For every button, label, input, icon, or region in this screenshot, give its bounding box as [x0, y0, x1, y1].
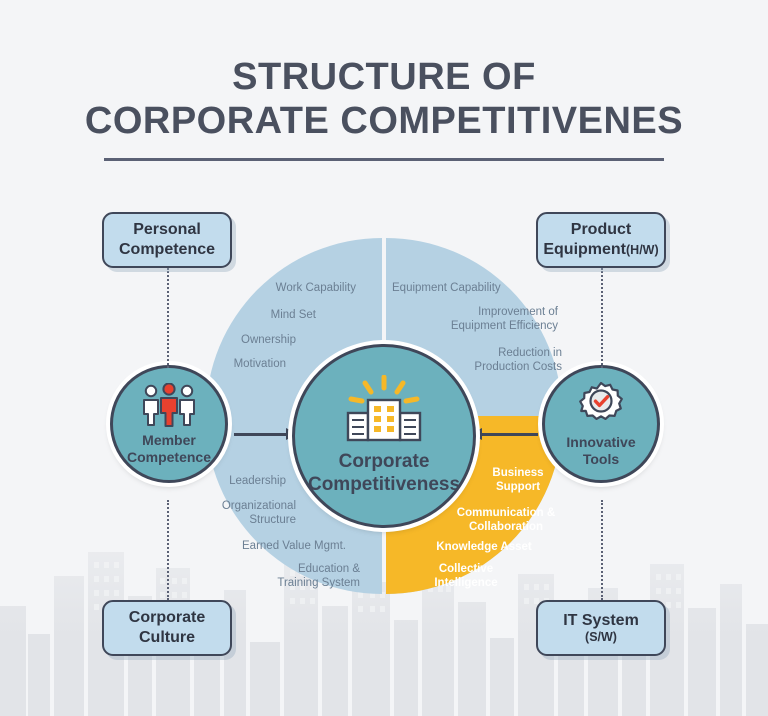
- spoke-line: Education &: [216, 562, 360, 576]
- spoke-ownership: Ownership: [156, 333, 296, 347]
- connector-product-equipment: [601, 268, 603, 368]
- spoke-line: Support: [472, 480, 564, 494]
- spoke-education-training-system: Education & Training System: [216, 562, 360, 591]
- spoke-line: Collaboration: [434, 520, 578, 534]
- spoke-line: Reduction in: [420, 346, 562, 360]
- spoke-line: Communication &: [434, 506, 578, 520]
- label-box-text: IT System (S/W): [563, 611, 639, 646]
- connector-personal-competence: [167, 268, 169, 368]
- page-title: STRUCTURE OF CORPORATE COMPETITIVENES: [0, 55, 768, 161]
- label-box-text: Product Equipment(H/W): [543, 220, 658, 259]
- arrow-member-to-center: [234, 425, 298, 445]
- spoke-line: Structure: [156, 513, 296, 527]
- spoke-improvement-equipment-efficiency: Improvement of Equipment Efficiency: [402, 305, 558, 334]
- node-center-label: Corporate Competitiveness: [308, 451, 460, 497]
- spoke-earned-value-mgmt: Earned Value Mgmt.: [186, 539, 346, 553]
- label-box-corporate-culture[interactable]: Corporate Culture: [102, 600, 232, 656]
- connector-corporate-culture: [167, 500, 169, 600]
- node-right-label-line2: Tools: [566, 451, 635, 468]
- title-underline: [104, 158, 664, 161]
- gear-check-icon: [576, 381, 626, 429]
- arrow-shaft: [234, 433, 288, 436]
- infographic-canvas: STRUCTURE OF CORPORATE COMPETITIVENES Wo…: [0, 0, 768, 716]
- connector-it-system: [601, 500, 603, 600]
- spoke-communication-collaboration: Communication & Collaboration: [434, 506, 578, 535]
- node-center-label-line1: Corporate: [308, 451, 460, 474]
- spoke-line: Equipment Efficiency: [402, 319, 558, 333]
- label-line-1: Product: [543, 220, 658, 240]
- label-box-it-system[interactable]: IT System (S/W): [536, 600, 666, 656]
- spoke-work-capability: Work Capability: [196, 281, 356, 295]
- node-corporate-competitiveness[interactable]: Corporate Competitiveness: [292, 344, 476, 528]
- label-box-product-equipment[interactable]: Product Equipment(H/W): [536, 212, 666, 268]
- spoke-line: Organizational: [156, 499, 296, 513]
- spoke-organizational-structure: Organizational Structure: [156, 499, 296, 528]
- spoke-line: Business: [472, 466, 564, 480]
- label-line-1: Corporate: [129, 608, 205, 628]
- arrow-shaft: [480, 433, 538, 436]
- label-line-2: Competence: [119, 240, 215, 260]
- spoke-mind-set: Mind Set: [176, 308, 316, 322]
- three-people-icon: [140, 383, 198, 427]
- node-right-label-line1: Innovative: [566, 434, 635, 451]
- node-center-label-line2: Competitiveness: [308, 474, 460, 497]
- label-line-2-main: Equipment: [543, 241, 626, 258]
- spoke-collective-intelligence: Collective Intelligence: [404, 562, 528, 591]
- label-line-1: Personal: [119, 220, 215, 240]
- label-line-2-suffix: (H/W): [626, 243, 659, 257]
- arrow-tools-to-center: [470, 425, 538, 445]
- node-left-label: Member Competence: [127, 432, 211, 466]
- spoke-line: Training System: [216, 576, 360, 590]
- node-left-label-line1: Member: [127, 432, 211, 449]
- spoke-equipment-capability: Equipment Capability: [392, 281, 562, 295]
- spoke-business-support: Business Support: [472, 466, 564, 495]
- spoke-line: Intelligence: [404, 576, 528, 590]
- label-box-personal-competence[interactable]: Personal Competence: [102, 212, 232, 268]
- spoke-knowledge-asset: Knowledge Asset: [414, 540, 554, 554]
- label-line-2: Culture: [129, 628, 205, 648]
- spoke-line: Improvement of: [402, 305, 558, 319]
- shining-building-icon: [338, 375, 430, 443]
- node-member-competence[interactable]: Member Competence: [110, 365, 228, 483]
- label-line-2: (S/W): [563, 630, 639, 645]
- label-line-2: Equipment(H/W): [543, 240, 658, 260]
- node-right-label: Innovative Tools: [566, 434, 635, 468]
- label-line-1: IT System: [563, 611, 639, 631]
- label-box-text: Corporate Culture: [129, 608, 205, 647]
- title-line-2: CORPORATE COMPETITIVENES: [0, 99, 768, 143]
- title-line-1: STRUCTURE OF: [0, 55, 768, 99]
- label-box-text: Personal Competence: [119, 220, 215, 259]
- node-left-label-line2: Competence: [127, 449, 211, 466]
- spoke-line: Collective: [404, 562, 528, 576]
- node-innovative-tools[interactable]: Innovative Tools: [542, 365, 660, 483]
